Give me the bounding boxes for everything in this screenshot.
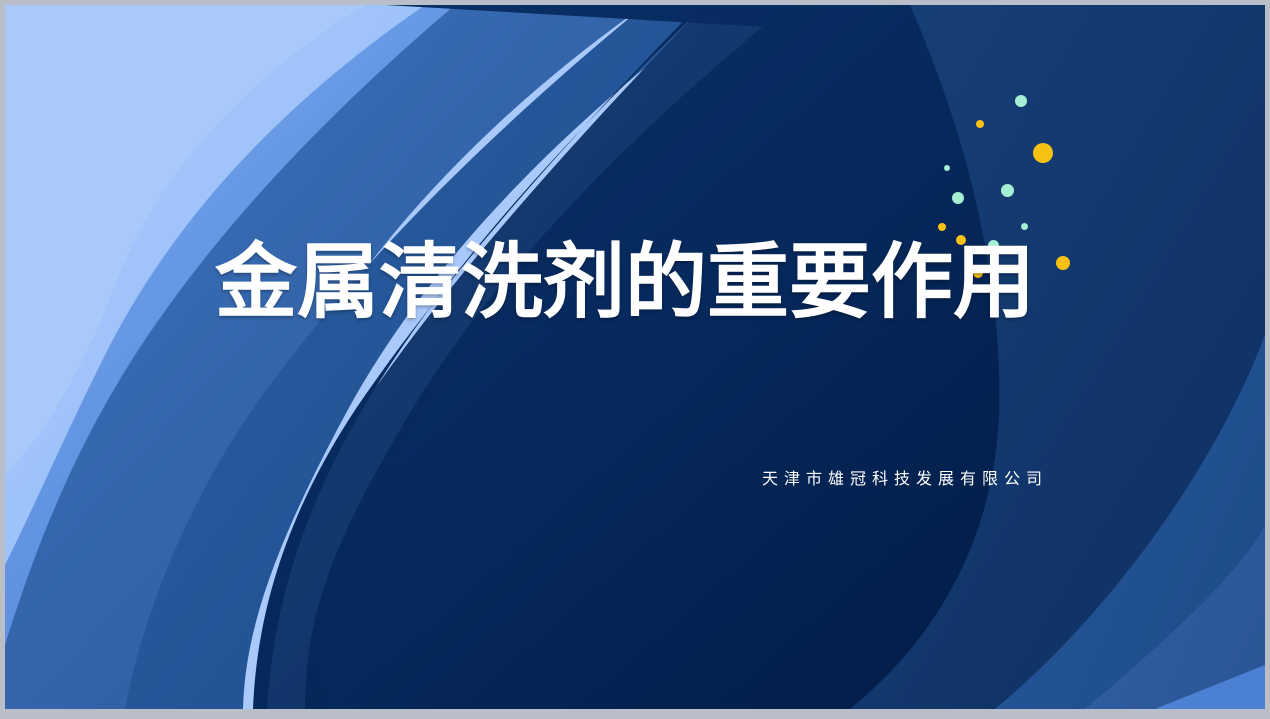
slide-canvas: 金属清洗剂的重要作用 天津市雄冠科技发展有限公司 xyxy=(5,5,1265,709)
slide-root: 金属清洗剂的重要作用 天津市雄冠科技发展有限公司 xyxy=(0,0,1270,719)
slide-title: 金属清洗剂的重要作用 xyxy=(215,233,1035,333)
title-block: 金属清洗剂的重要作用 天津市雄冠科技发展有限公司 xyxy=(5,5,1265,709)
slide-subtitle-company: 天津市雄冠科技发展有限公司 xyxy=(745,465,1065,489)
